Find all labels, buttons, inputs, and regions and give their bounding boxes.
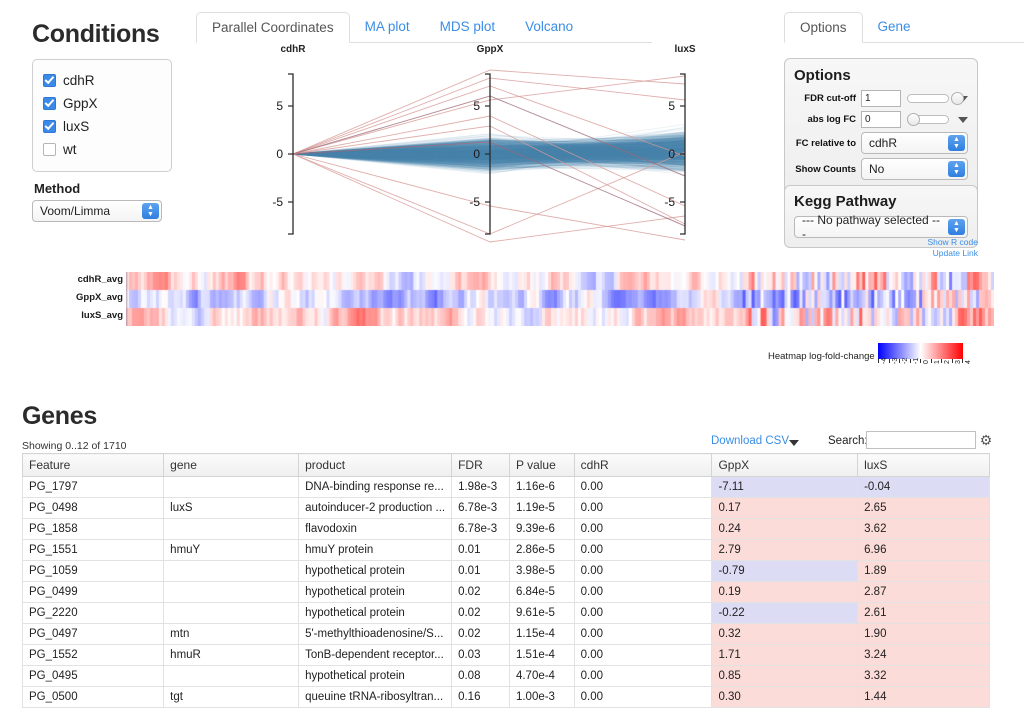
svg-text:5: 5 (473, 99, 480, 113)
svg-text:-5: -5 (272, 195, 283, 209)
heatmap-row-label-luxs: luxS_avg (81, 308, 123, 324)
tab-gene[interactable]: Gene (863, 12, 926, 43)
tab-options[interactable]: Options (784, 12, 863, 43)
cell-product: hypothetical protein (299, 561, 452, 582)
table-row[interactable]: PG_1552hmuRTonB-dependent receptor...0.0… (23, 645, 990, 666)
legend-tick-label: -4 (881, 358, 888, 364)
cell-fdr: 0.01 (452, 540, 510, 561)
cell-luxs: 2.87 (858, 582, 990, 603)
table-row[interactable]: PG_0495hypothetical protein0.084.70e-40.… (23, 666, 990, 687)
cell-gppx: 0.85 (712, 666, 858, 687)
column-header-cdhr[interactable]: cdhR (574, 454, 712, 477)
cell-feature: PG_1059 (23, 561, 164, 582)
legend-tick (952, 359, 953, 363)
cell-feature: PG_0495 (23, 666, 164, 687)
table-row[interactable]: PG_1059hypothetical protein0.013.98e-50.… (23, 561, 990, 582)
legend-tick (878, 359, 879, 363)
column-header-gene[interactable]: gene (164, 454, 299, 477)
cell-pvalue: 3.98e-5 (509, 561, 574, 582)
cell-gene (164, 477, 299, 498)
table-row[interactable]: PG_2220hypothetical protein0.029.61e-50.… (23, 603, 990, 624)
cell-gene (164, 603, 299, 624)
cell-product: hypothetical protein (299, 666, 452, 687)
cell-fdr: 0.02 (452, 603, 510, 624)
download-csv-button[interactable]: Download CSV (711, 435, 789, 447)
legend-colorbar (878, 343, 963, 359)
heatmap-row-label-gppx: GppX_avg (76, 290, 123, 306)
cell-feature: PG_0500 (23, 687, 164, 708)
legend-ticks: -4-3-2-101234 (878, 359, 963, 377)
cell-cdhr: 0.00 (574, 624, 712, 645)
cell-pvalue: 9.39e-6 (509, 519, 574, 540)
fc-relative-value: cdhR (869, 136, 897, 150)
legend-tick (899, 359, 900, 363)
cell-fdr: 0.08 (452, 666, 510, 687)
parallel-coordinates-canvas: 50-5 50-5 50-5 (196, 56, 756, 261)
axis-title-cdhr: cdhR (281, 44, 306, 55)
conditions-checkbox-group: cdhR GppX luxS wt (32, 59, 172, 172)
update-link[interactable]: Update Link (784, 248, 978, 259)
stepper-icon[interactable]: ▲▼ (948, 219, 965, 235)
fc-relative-label: FC relative to (794, 138, 856, 149)
tab-parallel-coordinates[interactable]: Parallel Coordinates (196, 12, 350, 43)
cell-cdhr: 0.00 (574, 666, 712, 687)
cell-gppx: -7.11 (712, 477, 858, 498)
genes-title: Genes (22, 402, 97, 431)
method-label: Method (34, 181, 182, 196)
legend-tick (962, 359, 963, 363)
cell-cdhr: 0.00 (574, 603, 712, 624)
svg-text:5: 5 (276, 99, 283, 113)
cell-gppx: 1.71 (712, 645, 858, 666)
cell-cdhr: 0.00 (574, 582, 712, 603)
cell-feature: PG_0497 (23, 624, 164, 645)
legend-tick (910, 359, 911, 363)
column-header-product[interactable]: product (299, 454, 452, 477)
legend-tick-label: 2 (944, 360, 951, 364)
cell-cdhr: 0.00 (574, 687, 712, 708)
table-row[interactable]: PG_1797DNA-binding response re...1.98e-3… (23, 477, 990, 498)
app-root: Conditions cdhR GppX luxS wt Method Voom… (0, 0, 1024, 715)
conditions-panel: Conditions cdhR GppX luxS wt Method Voom… (32, 20, 182, 222)
show-counts-select[interactable]: No ▲▼ (861, 158, 968, 180)
cell-product: queuine tRNA-ribosyltran... (299, 687, 452, 708)
axis-title-luxs: luxS (674, 44, 695, 55)
legend-tick-label: 0 (923, 360, 930, 364)
condition-item-luxs[interactable]: luxS (43, 115, 161, 137)
plot-tabbar: Parallel Coordinates MA plot MDS plot Vo… (196, 12, 652, 43)
abs-log-fc-row: abs log FC (794, 111, 968, 128)
fc-relative-row: FC relative to cdhR ▲▼ (794, 132, 968, 154)
heatmap-panel: cdhR_avg GppX_avg luxS_avg (20, 272, 980, 332)
heatmap-row-labels: cdhR_avg GppX_avg luxS_avg (20, 272, 123, 326)
cell-gene (164, 666, 299, 687)
cell-gppx: -0.79 (712, 561, 858, 582)
cell-luxs: 1.90 (858, 624, 990, 645)
condition-item-cdhr[interactable]: cdhR (43, 69, 161, 91)
fc-relative-select[interactable]: cdhR ▲▼ (861, 132, 968, 154)
legend-tick-label: -2 (902, 358, 909, 364)
heatmap-canvas (126, 272, 994, 326)
cell-cdhr: 0.00 (574, 519, 712, 540)
cell-feature: PG_0499 (23, 582, 164, 603)
options-card-title: Options (794, 67, 968, 84)
condition-item-gppx[interactable]: GppX (43, 92, 161, 114)
heatmap-row-label-cdhr: cdhR_avg (78, 272, 123, 288)
axis-title-gppx: GppX (477, 44, 504, 55)
checkbox-checked-icon[interactable] (43, 97, 56, 110)
cell-luxs: 6.96 (858, 540, 990, 561)
cell-product: flavodoxin (299, 519, 452, 540)
show-counts-row: Show Counts No ▲▼ (794, 158, 968, 180)
abs-log-fc-input[interactable] (861, 111, 901, 128)
svg-text:0: 0 (473, 147, 480, 161)
cell-cdhr: 0.00 (574, 561, 712, 582)
cell-product: hypothetical protein (299, 603, 452, 624)
cell-feature: PG_1797 (23, 477, 164, 498)
cell-feature: PG_1551 (23, 540, 164, 561)
method-select-value: Voom/Limma (40, 204, 110, 218)
stepper-icon[interactable]: ▲▼ (142, 203, 159, 219)
cell-feature: PG_1552 (23, 645, 164, 666)
cell-gppx: 0.30 (712, 687, 858, 708)
genes-table: Feature gene product FDR P value cdhR Gp… (22, 453, 990, 708)
legend-caption: Heatmap log-fold-change (768, 351, 875, 362)
heatmap-legend: Heatmap log-fold-change -4-3-2-101234 (768, 343, 983, 377)
show-counts-label: Show Counts (794, 164, 856, 175)
genes-showing-count: Showing 0..12 of 1710 (22, 440, 127, 452)
legend-tick (931, 359, 932, 363)
gear-icon[interactable]: ⚙ (979, 433, 993, 447)
stepper-icon[interactable]: ▲▼ (948, 135, 965, 151)
checkbox-checked-icon[interactable] (43, 74, 56, 87)
table-row[interactable]: PG_0498luxSautoinducer-2 production ...6… (23, 498, 990, 519)
cell-pvalue: 9.61e-5 (509, 603, 574, 624)
cell-gppx: 2.79 (712, 540, 858, 561)
slider-knob[interactable] (907, 113, 920, 126)
slider-knob[interactable] (951, 92, 964, 105)
svg-text:5: 5 (668, 99, 675, 113)
cell-gene (164, 582, 299, 603)
right-tabbar: Options Gene (784, 12, 1024, 43)
search-input[interactable] (866, 431, 976, 449)
abs-log-fc-slider[interactable] (907, 113, 949, 126)
tab-ma-plot[interactable]: MA plot (350, 12, 425, 43)
tab-volcano[interactable]: Volcano (510, 12, 588, 43)
cell-cdhr: 0.00 (574, 540, 712, 561)
cell-feature: PG_1858 (23, 519, 164, 540)
table-header-row: Feature gene product FDR P value cdhR Gp… (23, 454, 990, 477)
column-header-luxs[interactable]: luxS (858, 454, 990, 477)
cell-fdr: 1.98e-3 (452, 477, 510, 498)
cell-feature: PG_2220 (23, 603, 164, 624)
cell-gppx: 0.24 (712, 519, 858, 540)
cell-luxs: 3.24 (858, 645, 990, 666)
chevron-down-icon[interactable] (789, 440, 799, 446)
legend-tick (920, 359, 921, 363)
cell-gppx: 0.19 (712, 582, 858, 603)
cell-fdr: 6.78e-3 (452, 519, 510, 540)
parallel-coordinates-plot: cdhR GppX luxS (196, 44, 756, 264)
cell-gene (164, 519, 299, 540)
table-row[interactable]: PG_0499hypothetical protein0.026.84e-50.… (23, 582, 990, 603)
cell-gene (164, 561, 299, 582)
cell-luxs: 3.62 (858, 519, 990, 540)
cell-pvalue: 2.86e-5 (509, 540, 574, 561)
cell-fdr: 0.02 (452, 582, 510, 603)
condition-label: wt (63, 142, 77, 157)
fdr-cutoff-label: FDR cut-off (794, 93, 856, 104)
cell-luxs: 2.65 (858, 498, 990, 519)
cell-pvalue: 1.15e-4 (509, 624, 574, 645)
condition-label: GppX (63, 96, 98, 111)
checkbox-checked-icon[interactable] (43, 120, 56, 133)
svg-text:-5: -5 (469, 195, 480, 209)
cell-gene: hmuY (164, 540, 299, 561)
condition-label: luxS (63, 119, 89, 134)
kegg-pathway-title: Kegg Pathway (794, 193, 968, 210)
kegg-pathway-select[interactable]: --- No pathway selected --- ▲▼ (794, 216, 968, 238)
cell-pvalue: 1.00e-3 (509, 687, 574, 708)
column-header-fdr[interactable]: FDR (452, 454, 510, 477)
cell-gene: tgt (164, 687, 299, 708)
cell-pvalue: 1.16e-6 (509, 477, 574, 498)
svg-text:-5: -5 (664, 195, 675, 209)
table-row[interactable]: PG_0497mtn5'-methylthioadenosine/S...0.0… (23, 624, 990, 645)
cell-gene: hmuR (164, 645, 299, 666)
legend-tick-label: 3 (955, 360, 962, 364)
checkbox-unchecked-icon[interactable] (43, 143, 56, 156)
table-row[interactable]: PG_1551hmuYhmuY protein0.012.86e-50.002.… (23, 540, 990, 561)
cell-luxs: 3.32 (858, 666, 990, 687)
cell-luxs: 1.44 (858, 687, 990, 708)
fdr-cutoff-slider[interactable] (907, 92, 949, 105)
cell-product: DNA-binding response re... (299, 477, 452, 498)
legend-tick-label: -1 (913, 358, 920, 364)
cell-product: 5'-methylthioadenosine/S... (299, 624, 452, 645)
conditions-title: Conditions (32, 20, 182, 49)
svg-text:0: 0 (668, 147, 675, 161)
condition-item-wt[interactable]: wt (43, 138, 161, 160)
legend-tick-label: -3 (892, 358, 899, 364)
stepper-icon[interactable]: ▲▼ (948, 161, 965, 177)
legend-tick-label: 1 (934, 360, 941, 364)
fdr-cutoff-input[interactable] (861, 90, 901, 107)
condition-label: cdhR (63, 73, 95, 88)
cell-gene: luxS (164, 498, 299, 519)
cell-feature: PG_0498 (23, 498, 164, 519)
slider-track (907, 94, 949, 103)
cell-product: hmuY protein (299, 540, 452, 561)
cell-cdhr: 0.00 (574, 498, 712, 519)
cell-pvalue: 1.19e-5 (509, 498, 574, 519)
cell-cdhr: 0.00 (574, 645, 712, 666)
show-r-code-link[interactable]: Show R code (784, 237, 978, 248)
cell-product: autoinducer-2 production ... (299, 498, 452, 519)
cell-pvalue: 6.84e-5 (509, 582, 574, 603)
cell-luxs: 1.89 (858, 561, 990, 582)
cell-luxs: -0.04 (858, 477, 990, 498)
table-row[interactable]: PG_0500tgtqueuine tRNA-ribosyltran...0.1… (23, 687, 990, 708)
r-links: Show R code Update Link (784, 237, 978, 259)
cell-gene: mtn (164, 624, 299, 645)
cell-fdr: 0.16 (452, 687, 510, 708)
cell-fdr: 6.78e-3 (452, 498, 510, 519)
cell-pvalue: 4.70e-4 (509, 666, 574, 687)
options-card: Options FDR cut-off abs log FC FC relati… (784, 58, 978, 195)
chevron-down-icon[interactable] (958, 117, 968, 123)
cell-gppx: 0.17 (712, 498, 858, 519)
cell-fdr: 0.02 (452, 624, 510, 645)
cell-fdr: 0.03 (452, 645, 510, 666)
cell-product: TonB-dependent receptor... (299, 645, 452, 666)
legend-tick (941, 359, 942, 363)
table-row[interactable]: PG_1858flavodoxin6.78e-39.39e-60.000.243… (23, 519, 990, 540)
column-header-pvalue[interactable]: P value (509, 454, 574, 477)
legend-tick (889, 359, 890, 363)
legend-tick-label: 4 (965, 360, 972, 364)
cell-product: hypothetical protein (299, 582, 452, 603)
svg-text:0: 0 (276, 147, 283, 161)
cell-luxs: 2.61 (858, 603, 990, 624)
fdr-cutoff-row: FDR cut-off (794, 90, 968, 107)
column-header-feature[interactable]: Feature (23, 454, 164, 477)
cell-pvalue: 1.51e-4 (509, 645, 574, 666)
method-select[interactable]: Voom/Limma ▲▼ (32, 200, 162, 222)
abs-log-fc-label: abs log FC (794, 114, 856, 125)
cell-gppx: 0.32 (712, 624, 858, 645)
column-header-gppx[interactable]: GppX (712, 454, 858, 477)
search-label: Search: (828, 435, 868, 447)
cell-fdr: 0.01 (452, 561, 510, 582)
show-counts-value: No (869, 162, 884, 176)
cell-cdhr: 0.00 (574, 477, 712, 498)
cell-gppx: -0.22 (712, 603, 858, 624)
tab-mds-plot[interactable]: MDS plot (425, 12, 511, 43)
